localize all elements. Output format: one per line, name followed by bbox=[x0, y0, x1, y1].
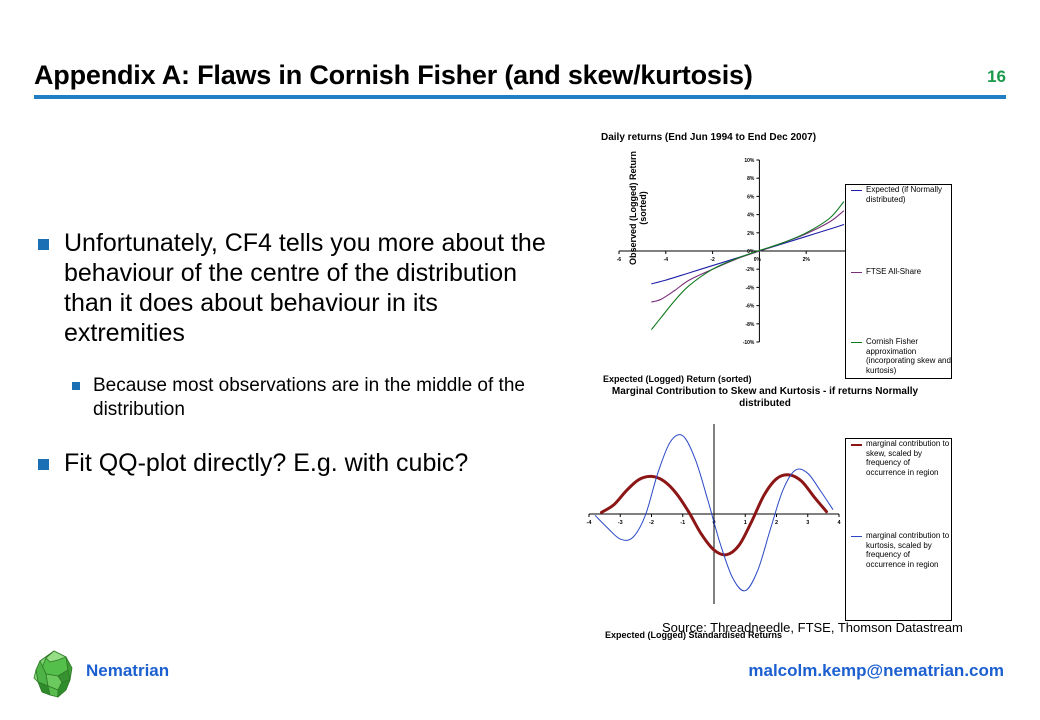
legend-label: Expected (if Normally distributed) bbox=[866, 185, 951, 204]
legend-item: Expected (if Normally distributed) bbox=[851, 185, 951, 204]
svg-text:-2: -2 bbox=[710, 257, 715, 263]
svg-text:2: 2 bbox=[775, 520, 778, 526]
legend-item: marginal contribution to skew, scaled by… bbox=[851, 439, 951, 477]
bullet-item-2: Because most observations are in the mid… bbox=[72, 374, 558, 422]
bullet-square-icon bbox=[72, 382, 80, 390]
svg-text:3: 3 bbox=[806, 520, 809, 526]
svg-text:-10%: -10% bbox=[743, 340, 755, 346]
bullet-text: Because most observations are in the mid… bbox=[93, 374, 558, 422]
svg-text:10%: 10% bbox=[744, 158, 755, 164]
svg-text:-3: -3 bbox=[618, 520, 623, 526]
bullet-item-3: Fit QQ-plot directly? E.g. with cubic? bbox=[38, 448, 558, 478]
bullet-square-icon bbox=[38, 239, 49, 250]
svg-text:8%: 8% bbox=[747, 176, 755, 182]
qq-plot-chart: Daily returns (End Jun 1994 to End Dec 2… bbox=[583, 132, 983, 382]
svg-text:4%: 4% bbox=[747, 213, 755, 219]
chart-legend: Expected (if Normally distributed)FTSE A… bbox=[845, 184, 952, 379]
svg-text:0%: 0% bbox=[754, 257, 762, 263]
svg-text:2%: 2% bbox=[747, 231, 755, 237]
svg-text:4: 4 bbox=[837, 520, 841, 526]
qq-plot-svg: 10%8%6%4%2%0%-2%-4%-6%-8%-10%-6-4-22%4%0… bbox=[611, 152, 871, 367]
legend-item: marginal contribution to kurtosis, scale… bbox=[851, 531, 951, 569]
svg-text:1: 1 bbox=[744, 520, 747, 526]
legend-color-swatch bbox=[851, 272, 862, 273]
chart-title: Marginal Contribution to Skew and Kurtos… bbox=[595, 386, 935, 410]
legend-label: Cornish Fisher approximation (incorporat… bbox=[866, 337, 951, 375]
legend-item: Cornish Fisher approximation (incorporat… bbox=[851, 337, 951, 375]
legend-color-swatch bbox=[851, 190, 862, 191]
bullet-text: Unfortunately, CF4 tells you more about … bbox=[64, 228, 558, 348]
brand-name: Nematrian bbox=[86, 661, 169, 681]
polyhedron-logo-icon bbox=[28, 648, 80, 700]
marginal-plot-svg: -4-3-2-101234 bbox=[583, 416, 845, 611]
bullet-square-icon bbox=[38, 459, 49, 470]
legend-label: marginal contribution to kurtosis, scale… bbox=[866, 531, 951, 569]
bullet-item-1: Unfortunately, CF4 tells you more about … bbox=[38, 228, 558, 348]
svg-text:6%: 6% bbox=[747, 194, 755, 200]
svg-text:-2%: -2% bbox=[745, 267, 754, 273]
chart-title: Daily returns (End Jun 1994 to End Dec 2… bbox=[583, 132, 983, 144]
legend-label: marginal contribution to skew, scaled by… bbox=[866, 439, 951, 477]
svg-text:-4: -4 bbox=[664, 257, 669, 263]
contact-email[interactable]: malcolm.kemp@nematrian.com bbox=[748, 661, 1004, 681]
marginal-contribution-chart: Marginal Contribution to Skew and Kurtos… bbox=[583, 386, 983, 618]
svg-text:-6%: -6% bbox=[745, 304, 754, 310]
svg-text:-4: -4 bbox=[587, 520, 593, 526]
source-note: Source: Threadneedle, FTSE, Thomson Data… bbox=[662, 620, 963, 635]
legend-item: FTSE All-Share bbox=[851, 267, 951, 277]
chart-legend: marginal contribution to skew, scaled by… bbox=[845, 438, 952, 621]
svg-text:2%: 2% bbox=[803, 257, 811, 263]
x-axis-label: Expected (Logged) Return (sorted) bbox=[603, 374, 752, 384]
bullet-list: Unfortunately, CF4 tells you more about … bbox=[38, 228, 558, 504]
legend-color-swatch bbox=[851, 536, 862, 537]
legend-color-swatch bbox=[851, 342, 862, 343]
page-number: 16 bbox=[987, 67, 1006, 87]
svg-text:-4%: -4% bbox=[745, 285, 754, 291]
legend-label: FTSE All-Share bbox=[866, 267, 921, 277]
svg-text:-6: -6 bbox=[617, 257, 622, 263]
bullet-text: Fit QQ-plot directly? E.g. with cubic? bbox=[64, 448, 468, 478]
svg-text:-2: -2 bbox=[649, 520, 654, 526]
legend-color-swatch bbox=[851, 444, 862, 446]
svg-text:-1: -1 bbox=[680, 520, 685, 526]
svg-text:-8%: -8% bbox=[745, 322, 754, 328]
page-title: Appendix A: Flaws in Cornish Fisher (and… bbox=[34, 58, 1006, 92]
title-underline-rule bbox=[34, 95, 1006, 99]
